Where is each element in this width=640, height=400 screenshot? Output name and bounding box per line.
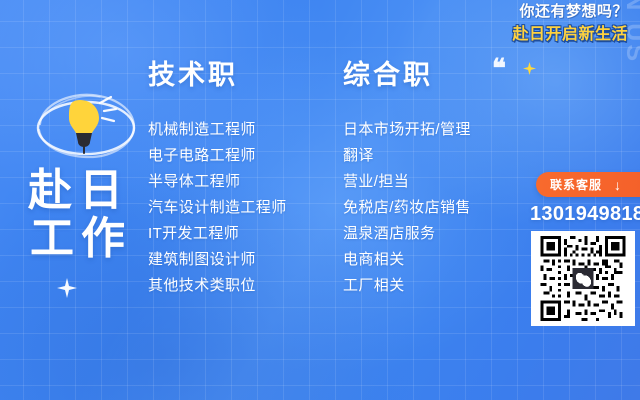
list-item: 营业/担当: [343, 169, 471, 195]
slogan-block: 你还有梦想吗？ 赴日开启新生活: [512, 4, 628, 43]
contact-support-button[interactable]: 联系客服 ↓: [536, 172, 640, 197]
job-column-general: 综合职 日本市场开拓/管理 翻译 营业/担当 免税店/药妆店销售 温泉酒店服务 …: [343, 62, 471, 299]
list-item: 其他技术类职位: [148, 273, 287, 299]
arrow-down-icon: ↓: [614, 178, 621, 192]
list-item: 机械制造工程师: [148, 117, 287, 143]
job-column-general-heading: 综合职: [343, 62, 471, 89]
join-us-side-text: JOIN US: [620, 0, 640, 64]
list-item: 电子电路工程师: [148, 143, 287, 169]
brand-title: 赴日 工作: [28, 167, 148, 263]
brand-title-line-2: 工作: [28, 215, 148, 263]
poster-canvas: 你还有梦想吗？ 赴日开启新生活 ❝ JOIN US 赴日: [0, 0, 640, 400]
qr-code[interactable]: [531, 231, 635, 326]
list-item: 温泉酒店服务: [343, 221, 471, 247]
brand-title-line-1: 赴日: [28, 167, 148, 215]
job-column-technical: 技术职 机械制造工程师 电子电路工程师 半导体工程师 汽车设计制造工程师 IT开…: [148, 62, 287, 299]
list-item: IT开发工程师: [148, 221, 287, 247]
list-item: 电商相关: [343, 247, 471, 273]
contact-support-label: 联系客服: [550, 176, 602, 193]
list-item: 半导体工程师: [148, 169, 287, 195]
slogan-line-1: 你还有梦想吗？: [512, 4, 628, 19]
slogan-line-2: 赴日开启新生活: [512, 27, 628, 43]
job-column-technical-heading: 技术职: [148, 62, 287, 89]
sparkle-star-white-icon: [57, 278, 77, 298]
list-item: 日本市场开拓/管理: [343, 117, 471, 143]
quote-mark-icon: ❝: [492, 56, 506, 82]
list-item: 汽车设计制造工程师: [148, 195, 287, 221]
list-item: 工厂相关: [343, 273, 471, 299]
job-list-general: 日本市场开拓/管理 翻译 营业/担当 免税店/药妆店销售 温泉酒店服务 电商相关…: [343, 117, 471, 299]
contact-phone-number: 13019498186: [530, 203, 640, 226]
list-item: 建筑制图设计师: [148, 247, 287, 273]
job-list-technical: 机械制造工程师 电子电路工程师 半导体工程师 汽车设计制造工程师 IT开发工程师…: [148, 117, 287, 299]
lightbulb-icon: [30, 84, 142, 166]
list-item: 翻译: [343, 143, 471, 169]
sparkle-star-yellow-icon: [523, 62, 536, 75]
list-item: 免税店/药妆店销售: [343, 195, 471, 221]
